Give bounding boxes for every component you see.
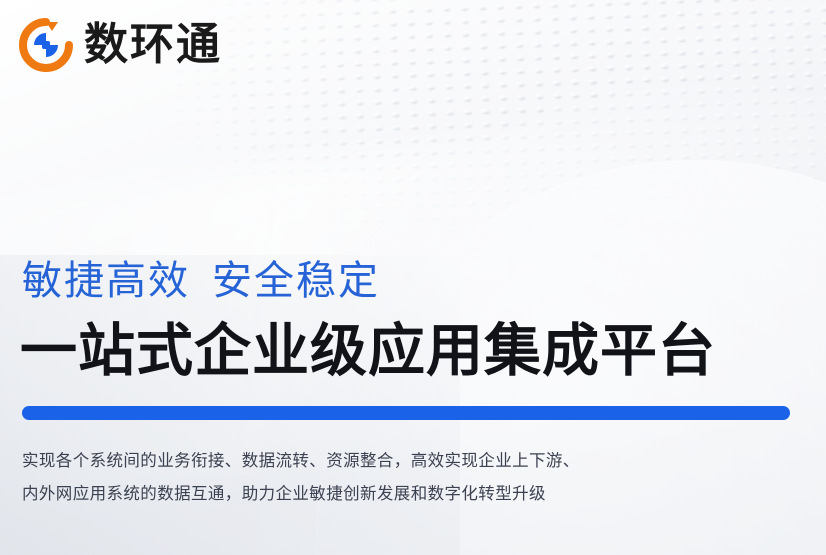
hero-subheadline-right: 安全稳定 xyxy=(212,258,380,304)
brand-name: 数环通 xyxy=(84,23,222,67)
circular-arrows-logo-icon xyxy=(18,17,74,73)
hero-copy: 敏捷高效安全稳定 一站式企业级应用集成平台 实现各个系统间的业务衔接、数据流转、… xyxy=(20,258,810,510)
brand-logo[interactable]: 数环通 xyxy=(18,17,222,73)
hero-banner: 数环通 敏捷高效安全稳定 一站式企业级应用集成平台 实现各个系统间的业务衔接、数… xyxy=(0,0,826,555)
accent-divider xyxy=(22,406,790,420)
hero-description-line-2: 内外网应用系统的数据互通，助力企业敏捷创新发展和数字化转型升级 xyxy=(22,477,810,510)
hero-subheadline: 敏捷高效安全稳定 xyxy=(22,258,810,304)
hero-description: 实现各个系统间的业务衔接、数据流转、资源整合，高效实现企业上下游、 内外网应用系… xyxy=(22,444,810,510)
hero-subheadline-left: 敏捷高效 xyxy=(22,258,190,304)
hero-description-line-1: 实现各个系统间的业务衔接、数据流转、资源整合，高效实现企业上下游、 xyxy=(22,444,810,477)
hero-headline: 一站式企业级应用集成平台 xyxy=(20,320,810,384)
